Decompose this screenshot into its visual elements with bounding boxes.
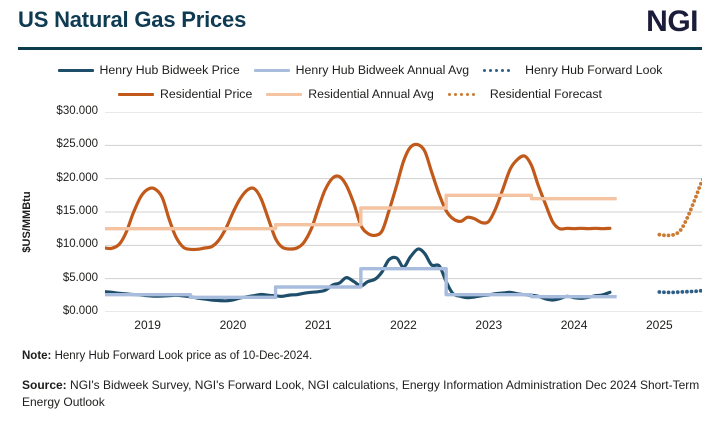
series-residential-forecast-dot — [681, 224, 685, 228]
y-axis-ticks: $0.000$5.000$10.000$15.000$20.000$25.000… — [40, 112, 98, 322]
legend-item-henry-hub-bidweek-annual-avg[interactable]: Henry Hub Bidweek Annual Avg — [254, 63, 469, 77]
legend-item-henry-hub-forward-look[interactable]: Henry Hub Forward Look — [483, 63, 662, 77]
legend-row-1: Henry Hub Bidweek PriceHenry Hub Bidweek… — [0, 58, 720, 82]
chart-page: US Natural Gas Prices NGI Henry Hub Bidw… — [0, 0, 720, 423]
legend-label: Henry Hub Bidweek Annual Avg — [296, 63, 469, 77]
series-henry-hub-forward-look-dot — [694, 289, 698, 293]
legend-dot — [460, 93, 463, 96]
legend-dot — [501, 69, 504, 72]
series-henry-hub-forward-look-dot — [685, 290, 689, 294]
dotted-line-swatch — [483, 68, 519, 72]
legend-label: Residential Price — [160, 87, 252, 101]
legend-dot — [495, 69, 498, 72]
ngi-logo: NGI — [646, 5, 698, 39]
x-tick-label: 2021 — [305, 318, 332, 332]
dotted-line-swatch — [448, 92, 484, 96]
x-tick-label: 2022 — [390, 318, 417, 332]
y-tick-label: $30.000 — [40, 105, 98, 117]
source-label: Source: — [22, 378, 67, 392]
series-henry-hub-forward-look-dot — [657, 290, 661, 294]
series-residential-forecast-dot — [662, 233, 666, 237]
note-text: Henry Hub Forward Look price as of 10-De… — [51, 350, 312, 362]
line-swatch — [118, 93, 154, 96]
series-residential-forecast-dot — [685, 216, 689, 220]
legend-label: Henry Hub Bidweek Price — [100, 63, 240, 77]
x-tick-label: 2020 — [220, 318, 247, 332]
series-residential-forecast-dot — [696, 190, 700, 194]
x-tick-label: 2023 — [475, 318, 502, 332]
source-text: NGI's Bidweek Survey, NGI's Forward Look… — [22, 378, 699, 409]
series-residential-forecast-dot — [694, 195, 698, 199]
legend-label: Residential Forecast — [490, 87, 602, 101]
note-label: Note: — [22, 350, 51, 362]
x-tick-label: 2024 — [561, 318, 588, 332]
series-residential-forecast-dot — [683, 220, 687, 224]
y-axis-label: $US/MMBtu — [21, 167, 33, 277]
legend-dot — [454, 93, 457, 96]
chart-canvas — [105, 112, 702, 312]
legend-dot — [507, 69, 510, 72]
series-residential-forecast-dot — [699, 182, 702, 186]
line-swatch — [58, 69, 94, 72]
header-divider — [18, 47, 702, 50]
legend-item-residential-annual-avg[interactable]: Residential Annual Avg — [266, 87, 434, 101]
legend-dot — [483, 69, 486, 72]
series-henry-hub-forward-look-dot — [662, 290, 666, 294]
series-henry-hub-forward-look-dot — [667, 290, 671, 294]
legend-item-residential-price[interactable]: Residential Price — [118, 87, 252, 101]
series-residential-forecast-dot — [667, 233, 671, 237]
series-residential-forecast-dot — [687, 212, 691, 216]
legend-row-2: Residential PriceResidential Annual AvgR… — [0, 82, 720, 106]
legend-dot — [466, 93, 469, 96]
series-residential-forecast-dot — [691, 203, 695, 207]
series-residential-forecast-dot — [675, 231, 679, 235]
source-line: Source: NGI's Bidweek Survey, NGI's Forw… — [22, 377, 712, 412]
series-residential-forecast-dot — [671, 233, 675, 237]
y-tick-label: $10.000 — [40, 238, 98, 250]
series-residential-forecast-dot — [679, 228, 683, 232]
series-residential-forecast-dot — [689, 208, 693, 212]
series-residential-forecast-dot — [692, 199, 696, 203]
y-tick-label: $15.000 — [40, 205, 98, 217]
x-tick-label: 2025 — [646, 318, 673, 332]
page-title: US Natural Gas Prices — [18, 7, 246, 33]
y-tick-label: $5.000 — [40, 272, 98, 284]
line-swatch — [254, 69, 290, 72]
y-tick-label: $25.000 — [40, 138, 98, 150]
series-residential-forecast-dot — [697, 186, 701, 190]
chart-notes: Note: Henry Hub Forward Look price as of… — [22, 348, 712, 411]
legend-label: Residential Annual Avg — [308, 87, 434, 101]
series-henry-hub-forward-look-dot — [690, 290, 694, 294]
series-residential-forecast-dot — [657, 233, 661, 237]
y-tick-label: $0.000 — [40, 305, 98, 317]
legend-item-henry-hub-bidweek-price[interactable]: Henry Hub Bidweek Price — [58, 63, 240, 77]
y-tick-label: $20.000 — [40, 172, 98, 184]
series-henry-hub-forward-look-dot — [676, 290, 680, 294]
page-header: US Natural Gas Prices NGI — [0, 0, 720, 50]
series-henry-hub-forward-look-dot — [699, 289, 702, 293]
legend-label: Henry Hub Forward Look — [525, 63, 662, 77]
legend-dot — [489, 69, 492, 72]
note-line: Note: Henry Hub Forward Look price as of… — [22, 348, 712, 365]
series-henry-hub-forward-look-dot — [680, 290, 684, 294]
x-axis-ticks: 2019202020212022202320242025 — [105, 318, 702, 340]
chart-legend: Henry Hub Bidweek PriceHenry Hub Bidweek… — [0, 58, 720, 110]
legend-item-residential-forecast[interactable]: Residential Forecast — [448, 87, 602, 101]
legend-dot — [472, 93, 475, 96]
line-swatch — [266, 93, 302, 96]
series-henry-hub-forward-look-dot — [671, 290, 675, 294]
series-henry-hub-bidweek-annual-avg — [105, 269, 617, 298]
legend-dot — [448, 93, 451, 96]
plot-area: $US/MMBtu $0.000$5.000$10.000$15.000$20.… — [0, 112, 720, 340]
x-tick-label: 2019 — [134, 318, 161, 332]
